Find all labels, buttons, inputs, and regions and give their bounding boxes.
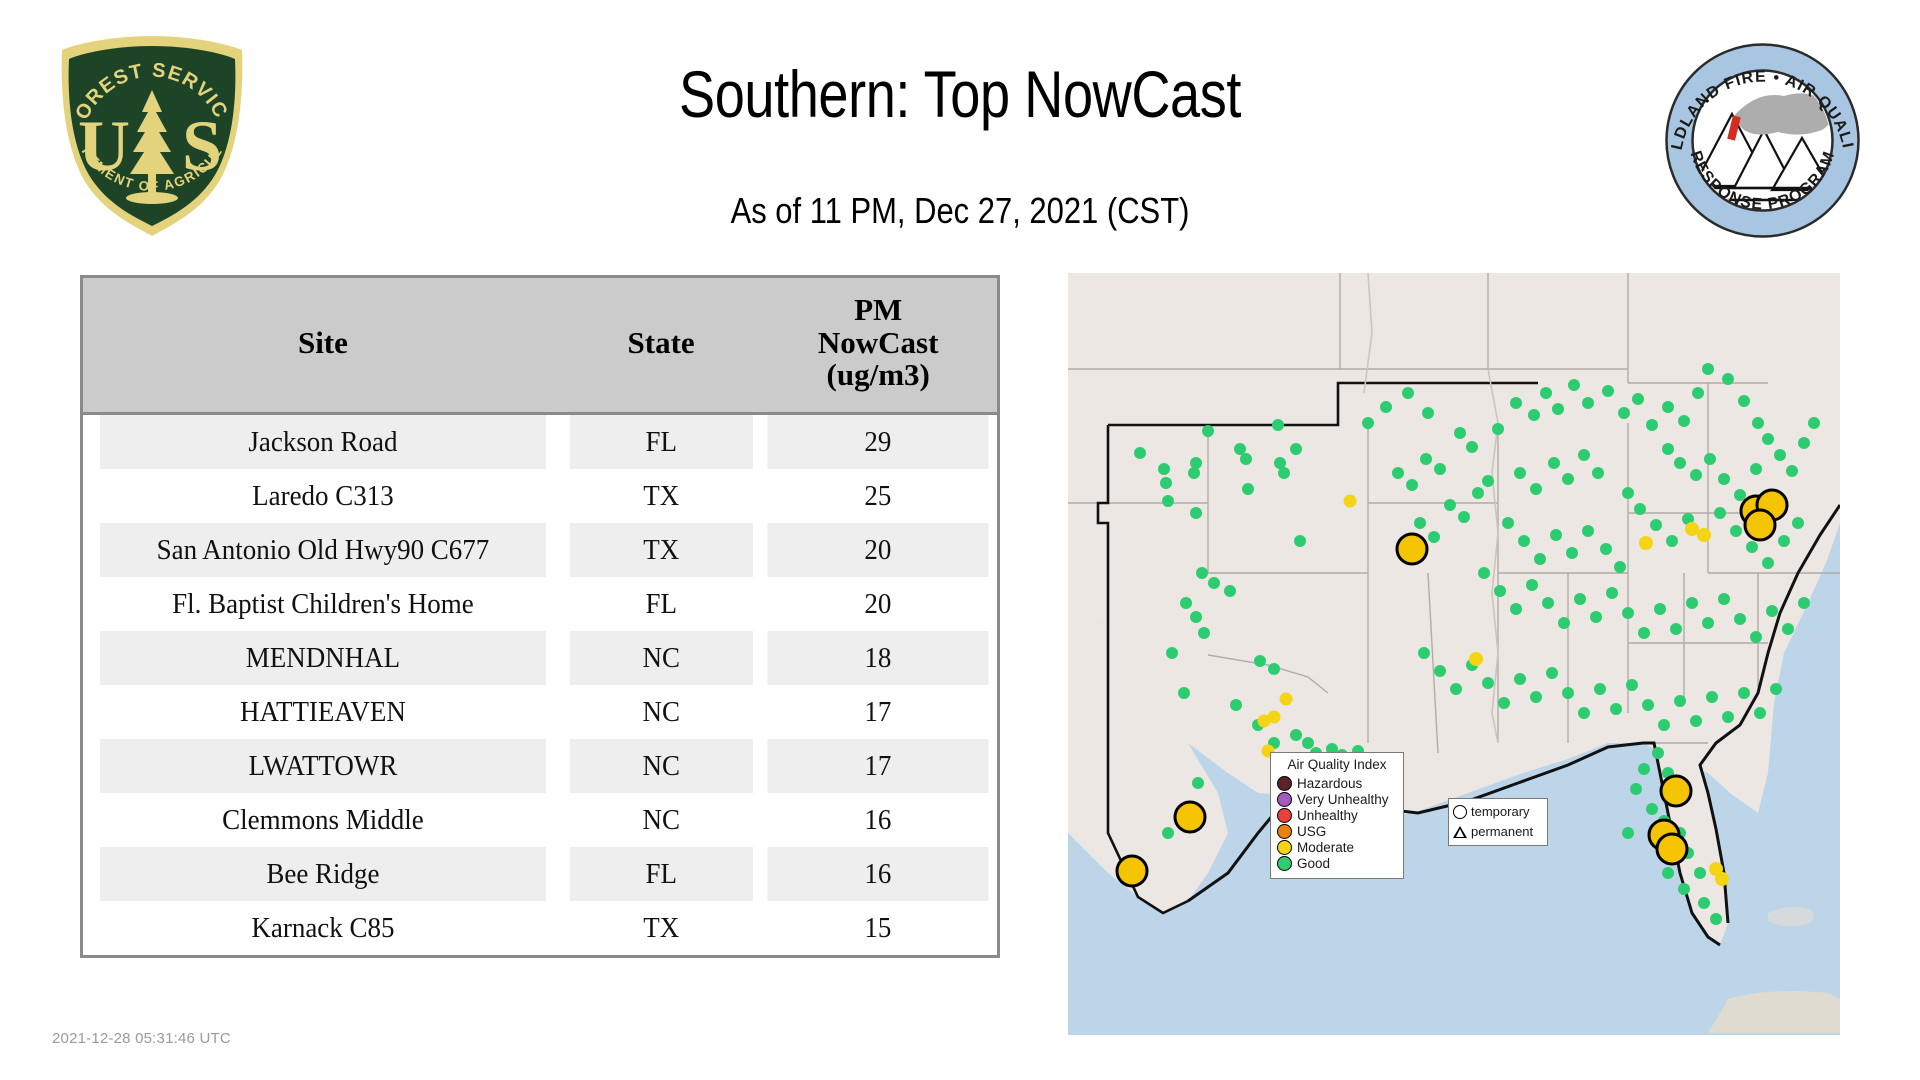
cell-site: Karnack C85	[100, 901, 546, 955]
aqi-legend-label: Very Unhealthy	[1297, 792, 1389, 808]
cell-pm-nowcast: 17	[768, 739, 989, 793]
map-site-marker-fl-1	[1661, 776, 1691, 806]
map-site-marker-west-tx	[1117, 856, 1147, 886]
slide-root: FOREST SERVICE DEPARTMENT OF AGRICULTURE…	[0, 0, 1920, 1080]
aqi-legend-label: USG	[1297, 824, 1326, 840]
cell-pm-nowcast: 16	[768, 793, 989, 847]
cell-state: NC	[570, 685, 753, 739]
svg-text:U: U	[78, 106, 130, 186]
cell-site: Jackson Road	[100, 414, 546, 470]
aqi-legend-item: Very Unhealthy	[1277, 792, 1397, 808]
cell-site: Bee Ridge	[100, 847, 546, 901]
map-site-marker-san-antonio	[1397, 534, 1427, 564]
top-nowcast-table: Site State PM NowCast (ug/m3) Jackson Ro…	[80, 275, 1000, 958]
aqi-legend-title: Air Quality Index	[1277, 757, 1397, 773]
legend-permanent: permanent	[1453, 822, 1543, 842]
table-row: Jackson RoadFL29	[83, 414, 997, 470]
cell-site: Fl. Baptist Children's Home	[100, 577, 546, 631]
temporary-circle-icon	[1453, 805, 1467, 819]
aqi-swatch-icon	[1277, 824, 1292, 839]
aqi-legend-item: Moderate	[1277, 840, 1397, 856]
footer-timestamp: 2021-12-28 05:31:46 UTC	[52, 1030, 231, 1047]
aqi-swatch-icon	[1277, 792, 1292, 807]
aqi-legend-label: Unhealthy	[1297, 808, 1358, 824]
cell-pm-nowcast: 20	[768, 577, 989, 631]
aqi-legend-label: Hazardous	[1297, 776, 1362, 792]
pm-header-line-2: NowCast	[763, 327, 993, 360]
table-row: Karnack C85TX15	[83, 901, 997, 955]
cell-site: Laredo C313	[100, 469, 546, 523]
cell-state: NC	[570, 631, 753, 685]
cell-pm-nowcast: 29	[768, 414, 989, 470]
map-legend-symbols: temporary permanent	[1448, 798, 1548, 846]
cell-state: NC	[570, 739, 753, 793]
pm-header-line-1: PM	[763, 294, 993, 327]
aqi-swatch-icon	[1277, 808, 1292, 823]
cell-pm-nowcast: 20	[768, 523, 989, 577]
aqi-legend-item: Good	[1277, 856, 1397, 872]
map-graphic	[1068, 273, 1840, 1035]
legend-permanent-label: permanent	[1471, 823, 1533, 842]
map-legend-aqi: Air Quality Index HazardousVery Unhealth…	[1270, 752, 1404, 879]
permanent-triangle-icon	[1453, 826, 1467, 838]
cell-pm-nowcast: 15	[768, 901, 989, 955]
legend-temporary: temporary	[1453, 802, 1543, 822]
legend-temporary-label: temporary	[1471, 803, 1530, 822]
table-row: LWATTOWRNC17	[83, 739, 997, 793]
page-subtitle: As of 11 PM, Dec 27, 2021 (CST)	[134, 190, 1785, 232]
aqi-legend-item: USG	[1277, 824, 1397, 840]
table-row: Fl. Baptist Children's HomeFL20	[83, 577, 997, 631]
cell-pm-nowcast: 25	[768, 469, 989, 523]
aqi-swatch-icon	[1277, 776, 1292, 791]
cell-site: HATTIEAVEN	[100, 685, 546, 739]
cell-pm-nowcast: 16	[768, 847, 989, 901]
column-header-state: State	[563, 278, 760, 414]
cell-pm-nowcast: 18	[768, 631, 989, 685]
aqi-legend-label: Good	[1297, 856, 1330, 872]
table-body: Jackson RoadFL29Laredo C313TX25San Anton…	[83, 414, 997, 956]
map-site-marker-nc-3	[1745, 510, 1775, 540]
column-header-site: Site	[83, 278, 563, 414]
map-site-marker-laredo	[1175, 802, 1205, 832]
table-row: Laredo C313TX25	[83, 469, 997, 523]
aqi-swatch-icon	[1277, 840, 1292, 855]
cell-site: MENDNHAL	[100, 631, 546, 685]
pm-header-line-3: (ug/m3)	[763, 359, 993, 392]
cell-state: FL	[570, 414, 753, 470]
cell-state: FL	[570, 847, 753, 901]
table-row: HATTIEAVENNC17	[83, 685, 997, 739]
column-header-pm-nowcast: PM NowCast (ug/m3)	[759, 278, 997, 414]
aqi-legend-label: Moderate	[1297, 840, 1354, 856]
cell-state: TX	[570, 469, 753, 523]
cell-site: San Antonio Old Hwy90 C677	[100, 523, 546, 577]
table-row: Bee RidgeFL16	[83, 847, 997, 901]
table-row: San Antonio Old Hwy90 C677TX20	[83, 523, 997, 577]
cell-state: FL	[570, 577, 753, 631]
table-row: Clemmons MiddleNC16	[83, 793, 997, 847]
table-row: MENDNHALNC18	[83, 631, 997, 685]
aqi-swatch-icon	[1277, 856, 1292, 871]
cell-pm-nowcast: 17	[768, 685, 989, 739]
aqi-legend-item: Unhealthy	[1277, 808, 1397, 824]
cell-state: TX	[570, 901, 753, 955]
cell-site: Clemmons Middle	[100, 793, 546, 847]
cell-site: LWATTOWR	[100, 739, 546, 793]
cell-state: NC	[570, 793, 753, 847]
map-site-marker-fl-3	[1657, 834, 1687, 864]
aqi-legend-item: Hazardous	[1277, 776, 1397, 792]
page-title: Southern: Top NowCast	[173, 56, 1747, 132]
cell-state: TX	[570, 523, 753, 577]
air-quality-map[interactable]	[1068, 273, 1840, 1035]
table-header-row: Site State PM NowCast (ug/m3)	[83, 278, 997, 414]
